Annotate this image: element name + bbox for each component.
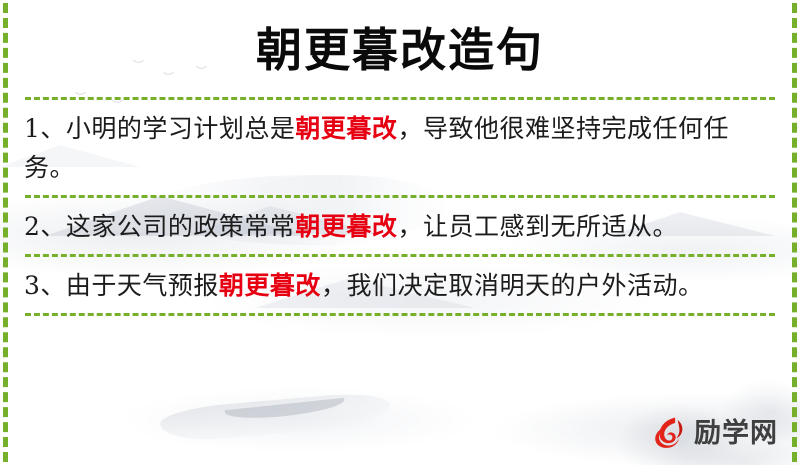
brand-name-label: 励学网 bbox=[694, 420, 778, 447]
sentence-text-after-3: ，我们决定取消明天的户外活动。 bbox=[321, 271, 704, 300]
sentence-text-before-2: 这家公司的政策常常 bbox=[66, 212, 296, 241]
page-title: 朝更暮改造句 bbox=[18, 0, 782, 73]
highlighted-idiom-2: 朝更暮改 bbox=[295, 212, 397, 241]
sentence-item-2: 2、这家公司的政策常常朝更暮改，让员工感到无所适从。 bbox=[18, 198, 782, 254]
page-root: ︶ ︶ ︶ ︶ ︶ 朝更暮改造句 1、小明的学习计划总是朝更暮改，导致他很难坚持… bbox=[0, 0, 800, 465]
highlighted-idiom-1: 朝更暮改 bbox=[295, 114, 397, 143]
sentence-text-before-3: 由于天气预报 bbox=[66, 271, 219, 300]
divider-after-sentence-3 bbox=[25, 313, 775, 316]
site-watermark-logo[interactable]: 励学网 bbox=[649, 411, 778, 455]
sentence-number-3: 3、 bbox=[24, 271, 66, 300]
sentence-item-3: 3、由于天气预报朝更暮改，我们决定取消明天的户外活动。 bbox=[18, 257, 782, 313]
sentence-item-1: 1、小明的学习计划总是朝更暮改，导致他很难坚持完成任何任务。 bbox=[18, 100, 782, 195]
sentence-text-after-2: ，让员工感到无所适从。 bbox=[397, 212, 678, 241]
sentence-number-2: 2、 bbox=[24, 212, 66, 241]
content-area: 朝更暮改造句 1、小明的学习计划总是朝更暮改，导致他很难坚持完成任何任务。 2、… bbox=[0, 0, 800, 465]
sentence-number-1: 1、 bbox=[24, 114, 66, 143]
flame-swirl-icon bbox=[649, 414, 687, 452]
sentence-text-before-1: 小明的学习计划总是 bbox=[66, 114, 296, 143]
highlighted-idiom-3: 朝更暮改 bbox=[219, 271, 321, 300]
